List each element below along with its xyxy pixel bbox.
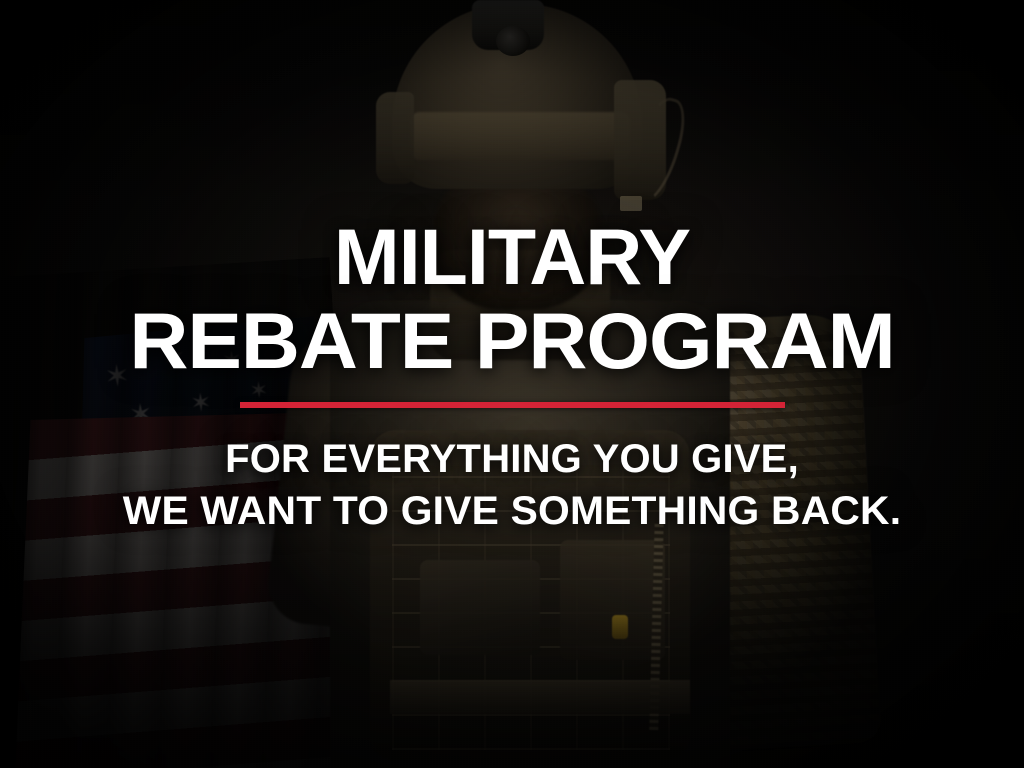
- subtitle-line-2: WE WANT TO GIVE SOMETHING BACK.: [0, 485, 1024, 537]
- headline-line-2: REBATE PROGRAM: [0, 299, 1024, 383]
- subtitle-line-1: FOR EVERYTHING YOU GIVE,: [0, 433, 1024, 485]
- military-rebate-poster: ✶ ✶ ✶ ✶ ✶ ✶: [0, 0, 1024, 768]
- poster-text-overlay: MILITARY REBATE PROGRAM FOR EVERYTHING Y…: [0, 0, 1024, 768]
- page-title: MILITARY REBATE PROGRAM: [0, 0, 1024, 383]
- accent-divider-rule: [240, 402, 785, 408]
- page-subtitle: FOR EVERYTHING YOU GIVE, WE WANT TO GIVE…: [0, 433, 1024, 537]
- headline-line-1: MILITARY: [0, 215, 1024, 299]
